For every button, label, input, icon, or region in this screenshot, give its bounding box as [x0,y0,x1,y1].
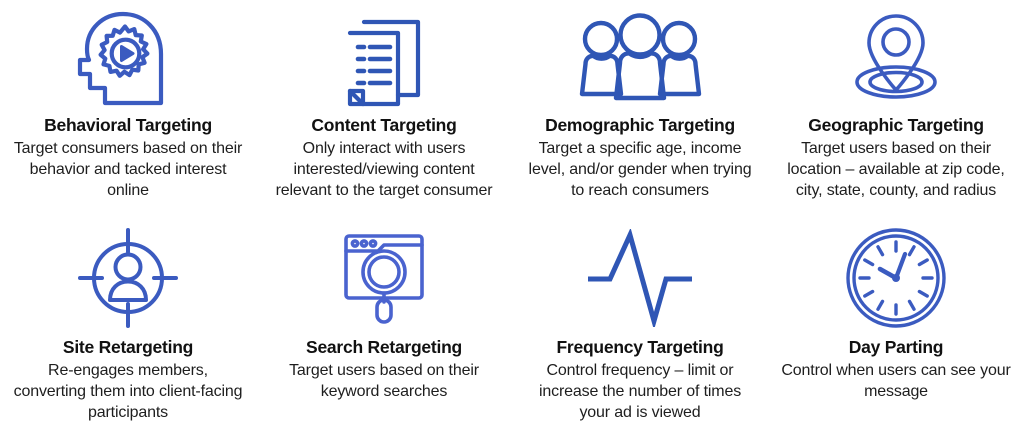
card-description: Target consumers based on their behavior… [10,138,246,201]
pulse-wave-icon [582,224,698,332]
card-title: Demographic Targeting [545,116,735,136]
card-title: Day Parting [849,338,944,358]
card-title: Frequency Targeting [556,338,723,358]
card-frequency-targeting: Frequency Targeting Control frequency – … [512,216,768,427]
card-description: Re-engages members, converting them into… [10,360,246,423]
targeting-types-infographic: Behavioral Targeting Target consumers ba… [0,0,1024,427]
browser-magnifier-icon [332,224,436,332]
card-title: Behavioral Targeting [44,116,212,136]
card-description: Control when users can see your message [778,360,1014,402]
card-title: Geographic Targeting [808,116,984,136]
card-behavioral-targeting: Behavioral Targeting Target consumers ba… [0,0,256,216]
target-person-icon [76,224,180,332]
card-title: Search Retargeting [306,338,462,358]
head-gear-play-icon [76,6,180,110]
card-title: Site Retargeting [63,338,193,358]
card-day-parting: Day Parting Control when users can see y… [768,216,1024,427]
card-description: Control frequency – limit or increase th… [522,360,758,423]
card-description: Only interact with users interested/view… [266,138,502,201]
card-demographic-targeting: Demographic Targeting Target a specific … [512,0,768,216]
clock-icon [844,224,948,332]
card-title: Content Targeting [311,116,456,136]
card-geographic-targeting: Geographic Targeting Target users based … [768,0,1024,216]
card-description: Target users based on their keyword sear… [266,360,502,402]
card-description: Target users based on their location – a… [778,138,1014,201]
card-description: Target a specific age, income level, and… [522,138,758,201]
card-site-retargeting: Site Retargeting Re-engages members, con… [0,216,256,427]
people-group-icon [572,6,708,110]
card-search-retargeting: Search Retargeting Target users based on… [256,216,512,427]
card-content-targeting: Content Targeting Only interact with use… [256,0,512,216]
documents-icon [336,6,432,110]
map-pin-icon [846,6,946,110]
